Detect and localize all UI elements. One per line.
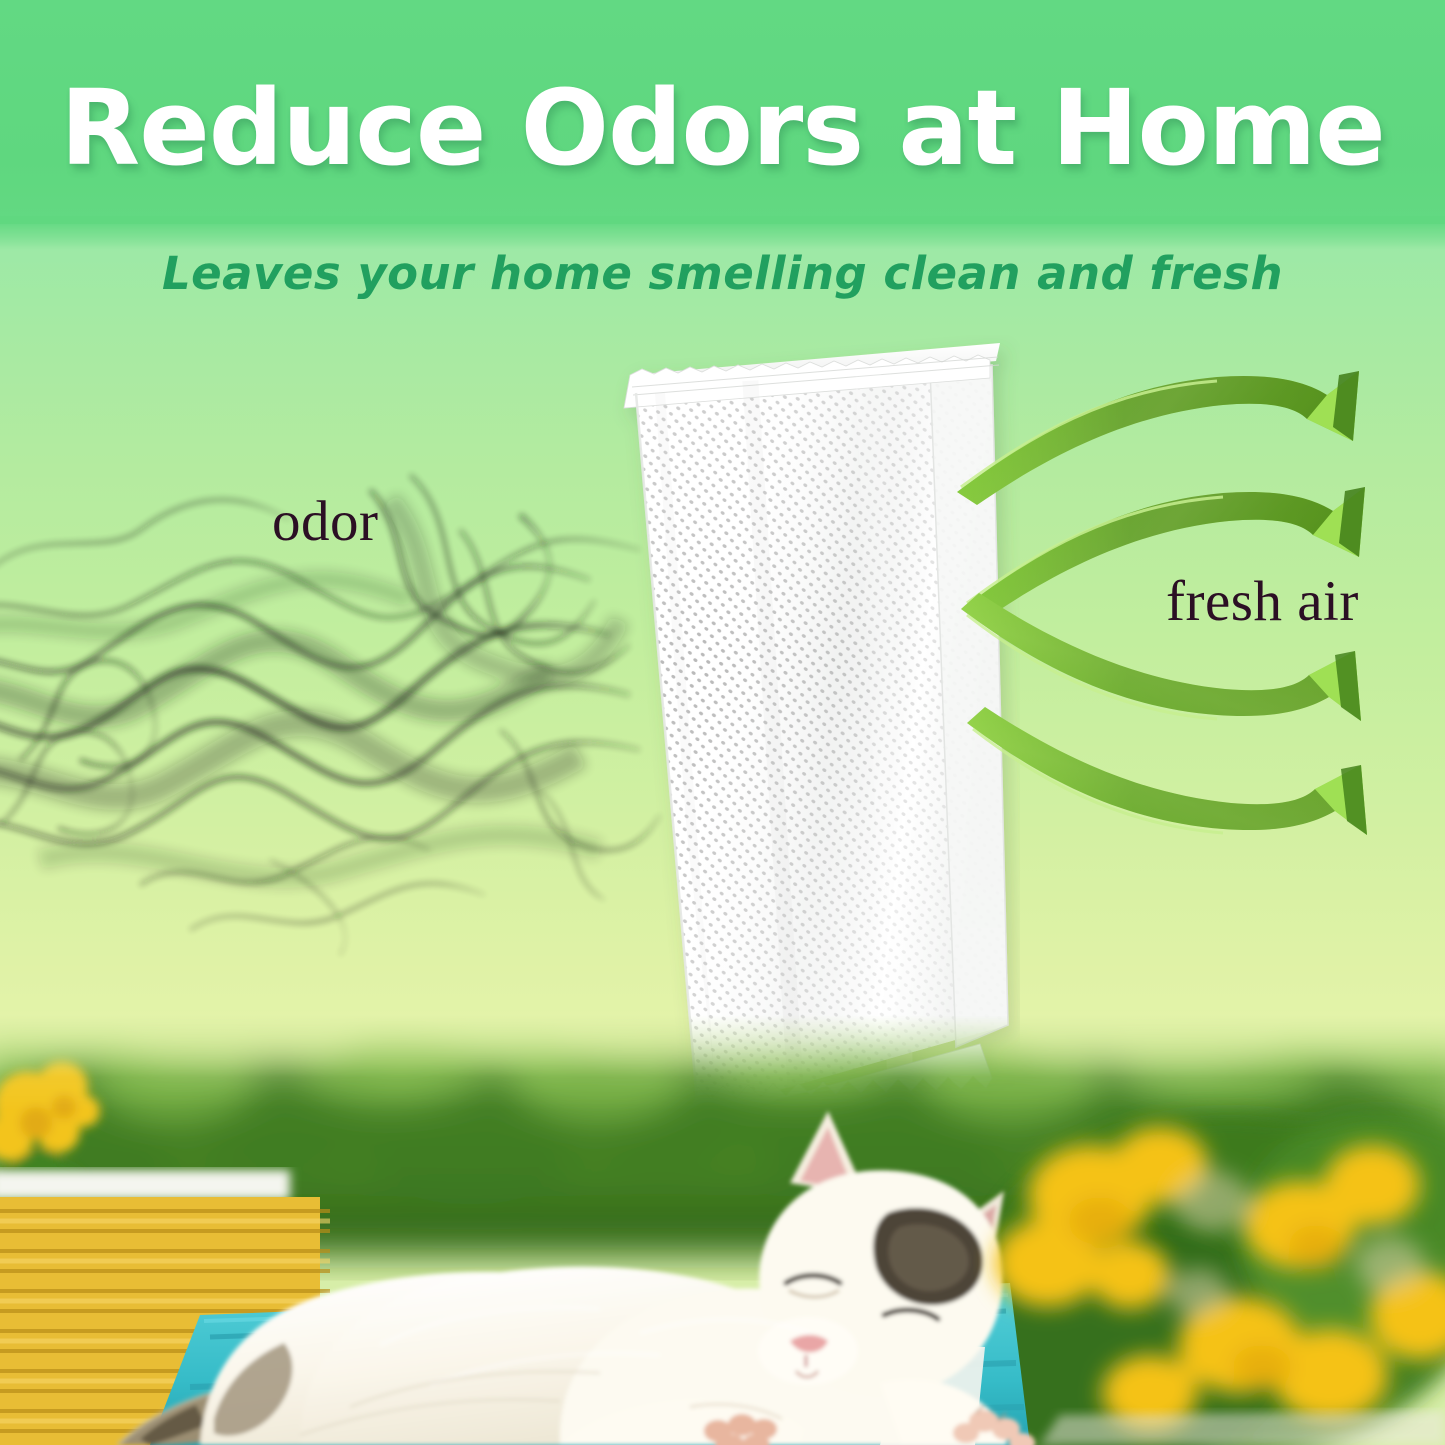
cat-photo [0, 1015, 1445, 1445]
marketing-banner: Reduce Odors at Home Leaves your home sm… [0, 0, 1445, 1445]
arrow-1 [957, 371, 1359, 505]
arrow-4 [967, 707, 1367, 835]
label-fresh-air: fresh air [1166, 569, 1359, 634]
page-subtitle: Leaves your home smelling clean and fres… [0, 247, 1445, 300]
label-odor: odor [272, 489, 378, 554]
page-title: Reduce Odors at Home [0, 74, 1445, 182]
